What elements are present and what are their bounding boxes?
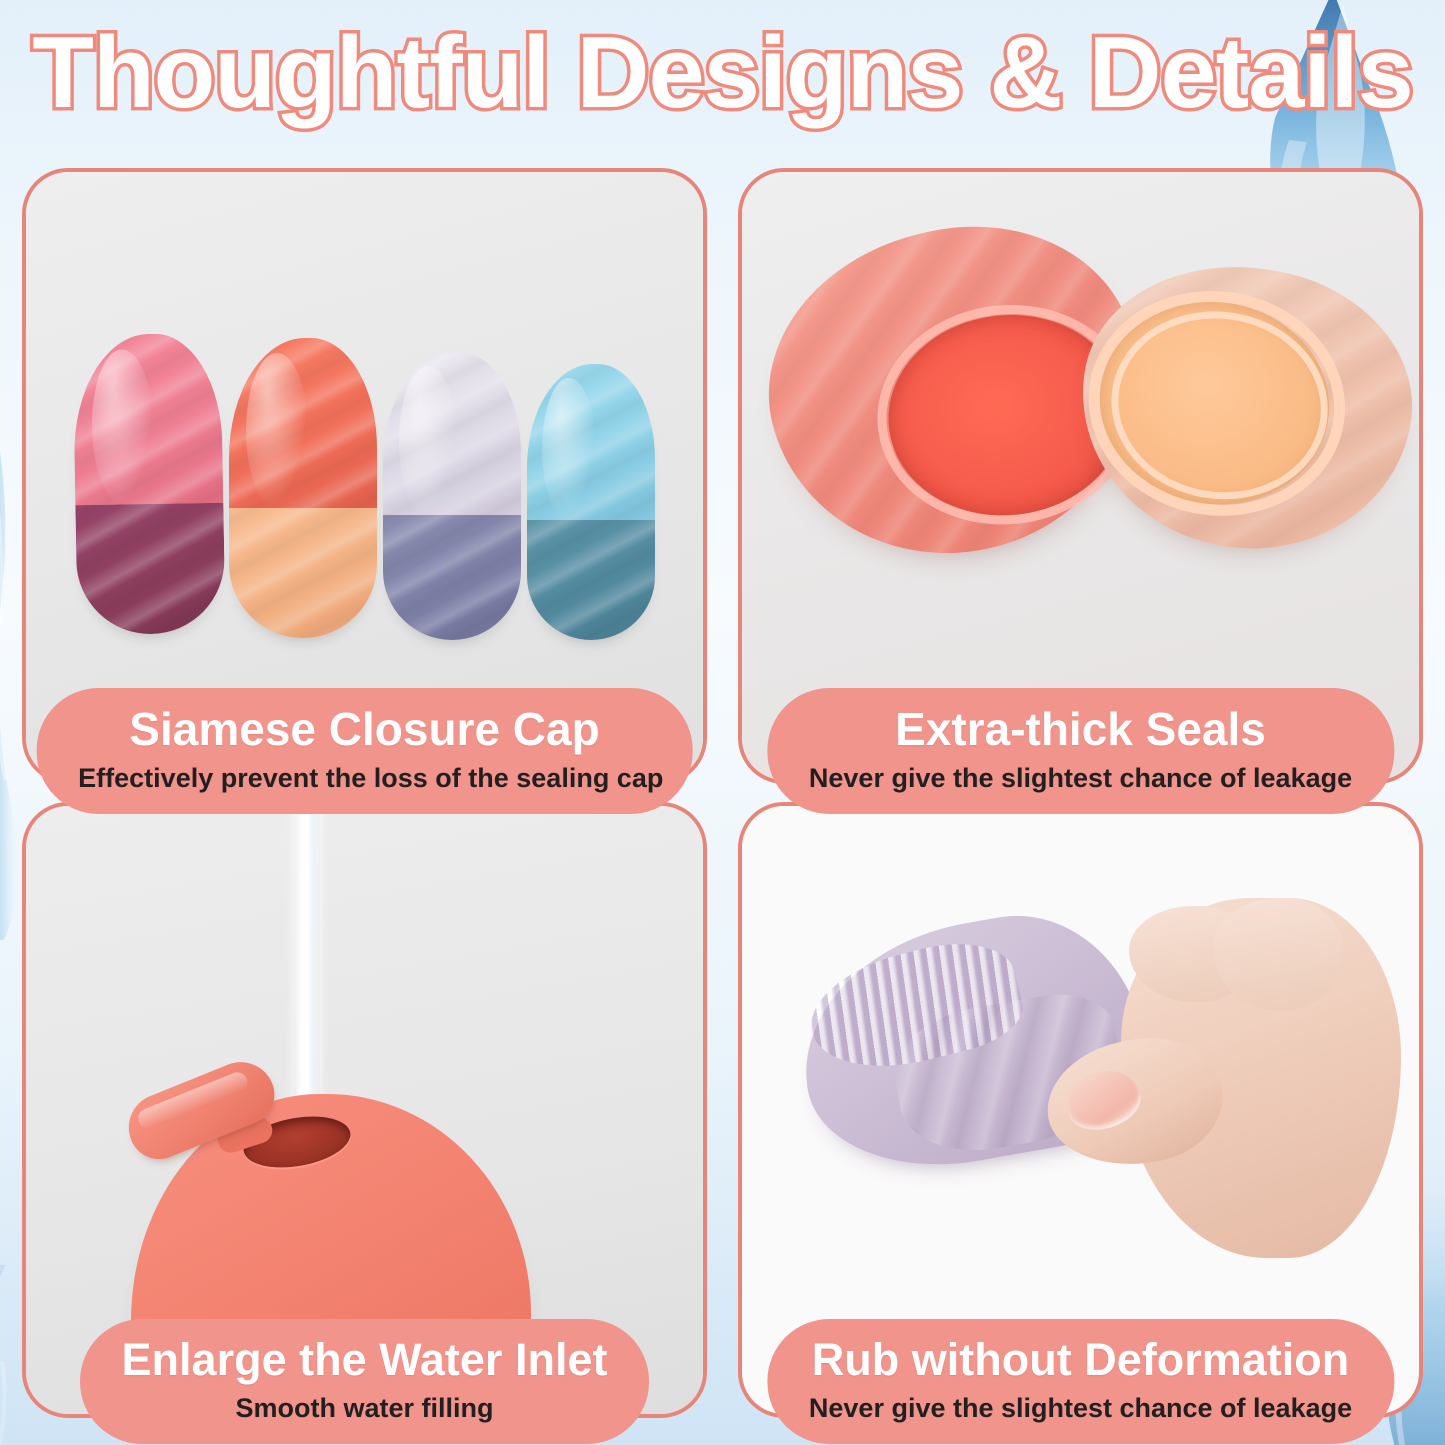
hand [1071, 858, 1401, 1298]
page-title: Thoughtful Designs & Details [0, 18, 1445, 129]
bottle-lineup [26, 310, 703, 640]
bottle-peach-open [1061, 244, 1419, 572]
feature-panel-grid: Siamese Closure Cap Effectively prevent … [22, 168, 1423, 1418]
caption-title: Siamese Closure Cap [78, 704, 651, 756]
caption-title: Extra-thick Seals [809, 704, 1352, 756]
caption-pill-enlarge-the-water-inlet: Enlarge the Water Inlet Smooth water fil… [80, 1319, 650, 1444]
bottle-lavender [383, 352, 521, 640]
feature-card-siamese-closure-cap[interactable]: Siamese Closure Cap Effectively prevent … [22, 168, 707, 784]
thumbnail [1060, 1062, 1148, 1138]
caption-pill-siamese-closure-cap: Siamese Closure Cap Effectively prevent … [36, 688, 693, 814]
caption-subtitle: Effectively prevent the loss of the seal… [78, 762, 651, 794]
feature-card-enlarge-the-water-inlet[interactable]: Enlarge the Water Inlet Smooth water fil… [22, 802, 707, 1418]
caption-title: Rub without Deformation [809, 1335, 1352, 1385]
feature-card-extra-thick-seals[interactable]: Extra-thick Seals Never give the slighte… [738, 168, 1423, 784]
bottle-coral [229, 338, 377, 638]
caption-title: Enlarge the Water Inlet [122, 1335, 608, 1385]
caption-pill-rub-without-deformation: Rub without Deformation Never give the s… [767, 1319, 1394, 1444]
knuckle-two [1213, 898, 1343, 1010]
water-stream [294, 806, 320, 1130]
caption-pill-extra-thick-seals: Extra-thick Seals Never give the slighte… [767, 688, 1394, 814]
feature-card-rub-without-deformation[interactable]: Rub without Deformation Never give the s… [738, 802, 1423, 1418]
caption-subtitle: Never give the slightest chance of leaka… [809, 762, 1352, 794]
caption-subtitle: Never give the slightest chance of leaka… [809, 1392, 1352, 1424]
caption-subtitle: Smooth water filling [122, 1392, 608, 1424]
bottle-pink [72, 333, 225, 636]
bottle-blue [527, 364, 655, 640]
